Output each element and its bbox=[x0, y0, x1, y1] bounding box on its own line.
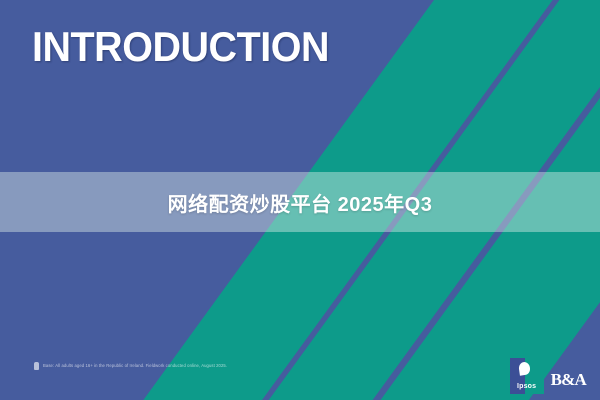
footnote-marker-icon bbox=[34, 362, 39, 370]
ba-wordmark: B&A bbox=[551, 371, 586, 394]
presentation-slide: INTRODUCTION 网络配资炒股平台 2025年Q3 Base: All … bbox=[0, 0, 600, 400]
ipsos-logo-bubble-icon bbox=[518, 361, 531, 375]
logo-lockup: Ipsos B&A bbox=[510, 358, 586, 394]
footnote: Base: All adults aged 16+ in the Republi… bbox=[34, 362, 227, 370]
caption-title: 网络配资炒股平台 2025年Q3 bbox=[168, 188, 433, 217]
ipsos-wordmark: Ipsos bbox=[510, 383, 544, 390]
footnote-text: Base: All adults aged 16+ in the Republi… bbox=[43, 364, 227, 369]
ipsos-logo-icon: Ipsos bbox=[510, 358, 544, 394]
caption-band: 网络配资炒股平台 2025年Q3 bbox=[0, 172, 600, 232]
slide-headline: INTRODUCTION bbox=[32, 26, 329, 68]
